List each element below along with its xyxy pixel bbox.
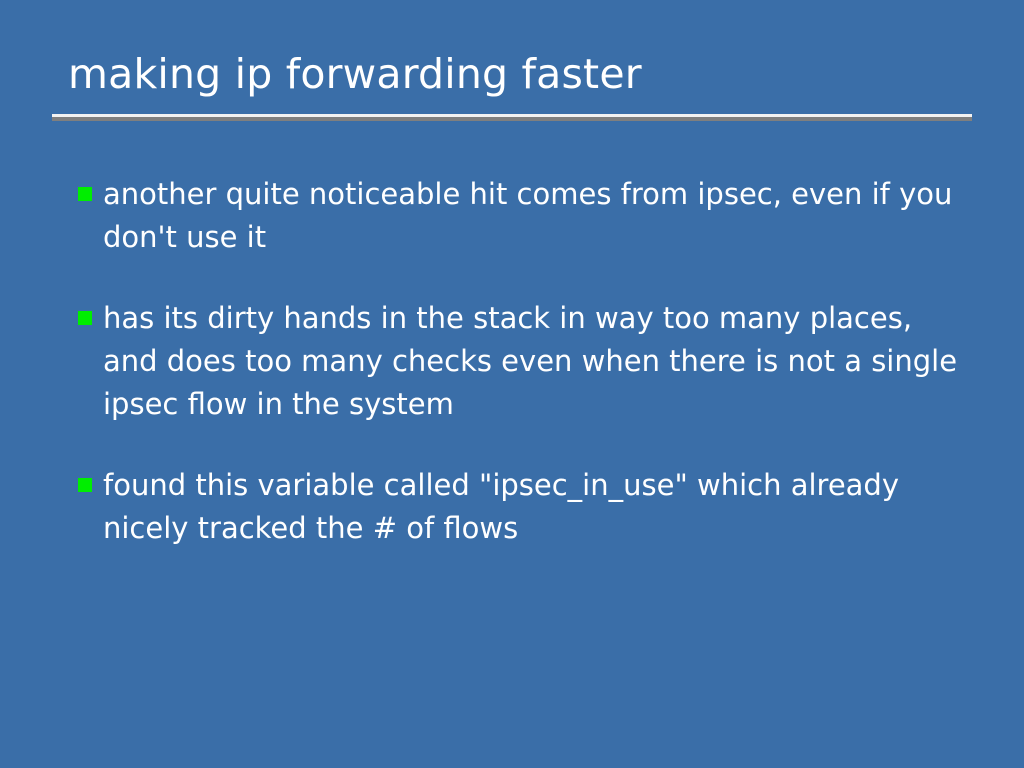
page-title: making ip forwarding faster	[68, 46, 642, 102]
green-square-bullet-icon	[78, 187, 92, 201]
slide-title-block: making ip forwarding faster	[52, 46, 972, 126]
list-item: has its dirty hands in the stack in way …	[78, 297, 958, 426]
list-item-label: found this variable called "ipsec_in_use…	[103, 464, 958, 550]
list-item-label: another quite noticeable hit comes from …	[103, 173, 958, 259]
title-underline-rule	[52, 114, 972, 121]
list-item: found this variable called "ipsec_in_use…	[78, 464, 958, 550]
list-item: another quite noticeable hit comes from …	[78, 173, 958, 259]
green-square-bullet-icon	[78, 478, 92, 492]
green-square-bullet-icon	[78, 311, 92, 325]
presentation-slide: making ip forwarding faster another quit…	[0, 0, 1024, 768]
slide-body-bullet-list: another quite noticeable hit comes from …	[78, 173, 958, 550]
title-rule-shadow-line	[52, 117, 972, 121]
list-item-label: has its dirty hands in the stack in way …	[103, 297, 958, 426]
